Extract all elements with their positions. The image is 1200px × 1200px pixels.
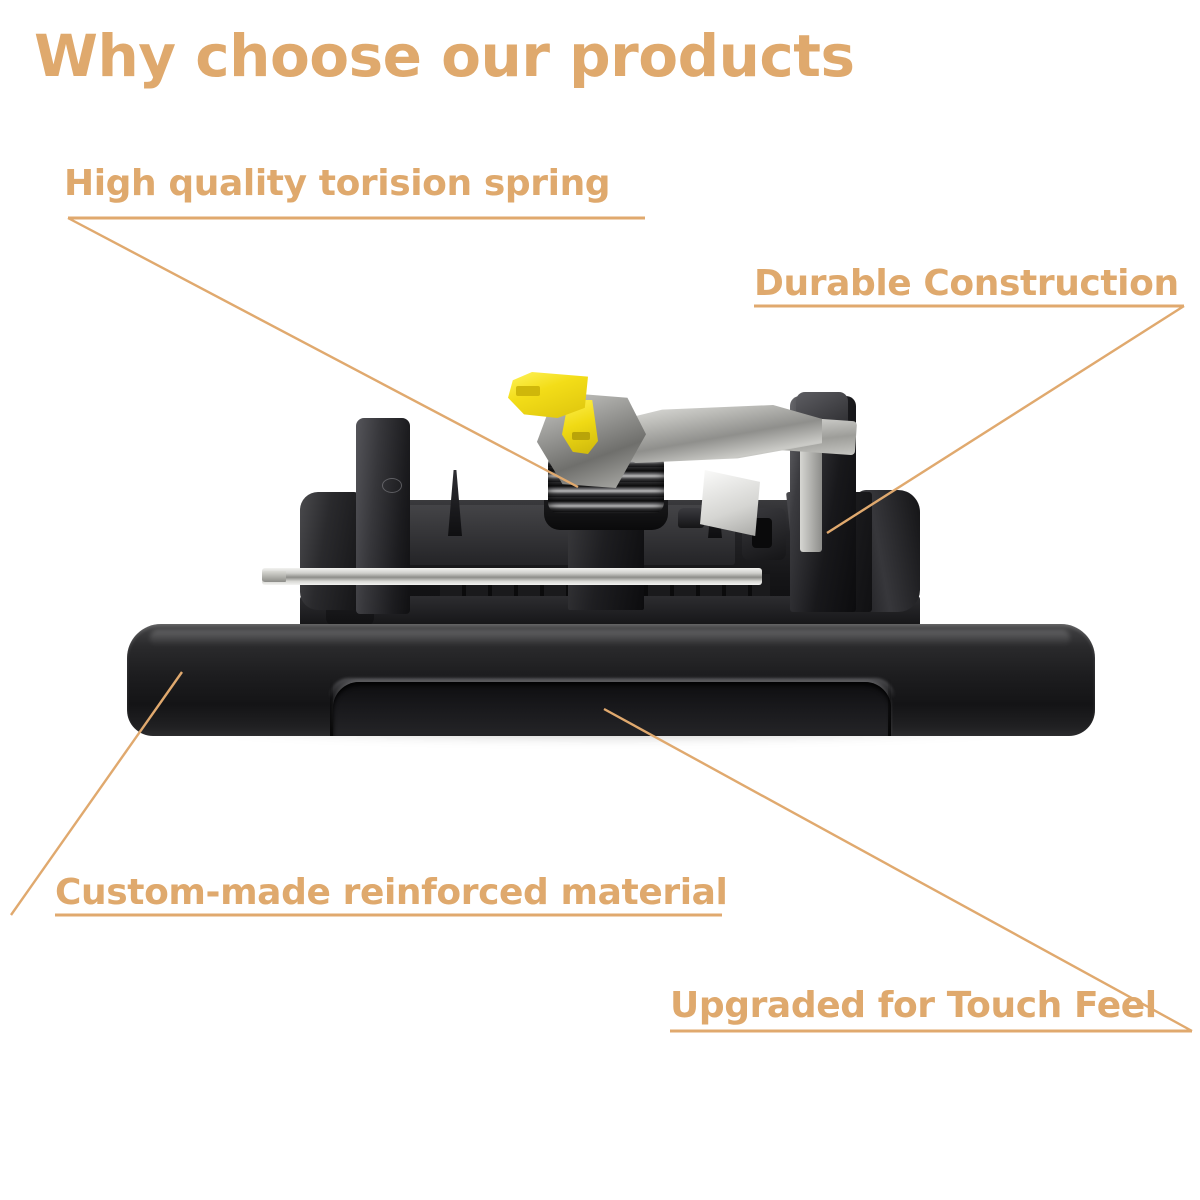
handle-bar-highlight	[150, 630, 1070, 646]
marketing-infographic: Why choose our products High quality tor…	[0, 0, 1200, 1200]
callout-label-reinforced-material: Custom-made reinforced material	[55, 873, 728, 913]
callout-label-touch-feel: Upgraded for Touch Feel	[670, 986, 1157, 1026]
page-title: Why choose our products	[34, 26, 855, 87]
callout-label-torsion-spring: High quality torision spring	[64, 164, 610, 204]
left-bracket-marking	[382, 478, 402, 493]
steel-rod	[262, 568, 762, 585]
left-bracket-pivot	[300, 492, 360, 610]
steel-rod-tip	[262, 571, 286, 582]
yellow-clip-lower-slot	[572, 432, 590, 440]
handle-bar-seam-right	[888, 678, 891, 736]
recessed-grip	[333, 682, 891, 736]
callout-label-durable-construction: Durable Construction	[754, 264, 1179, 304]
chassis-nub	[678, 508, 704, 528]
yellow-clip-notch	[516, 386, 540, 396]
handle-bar-seam-left	[330, 678, 333, 736]
